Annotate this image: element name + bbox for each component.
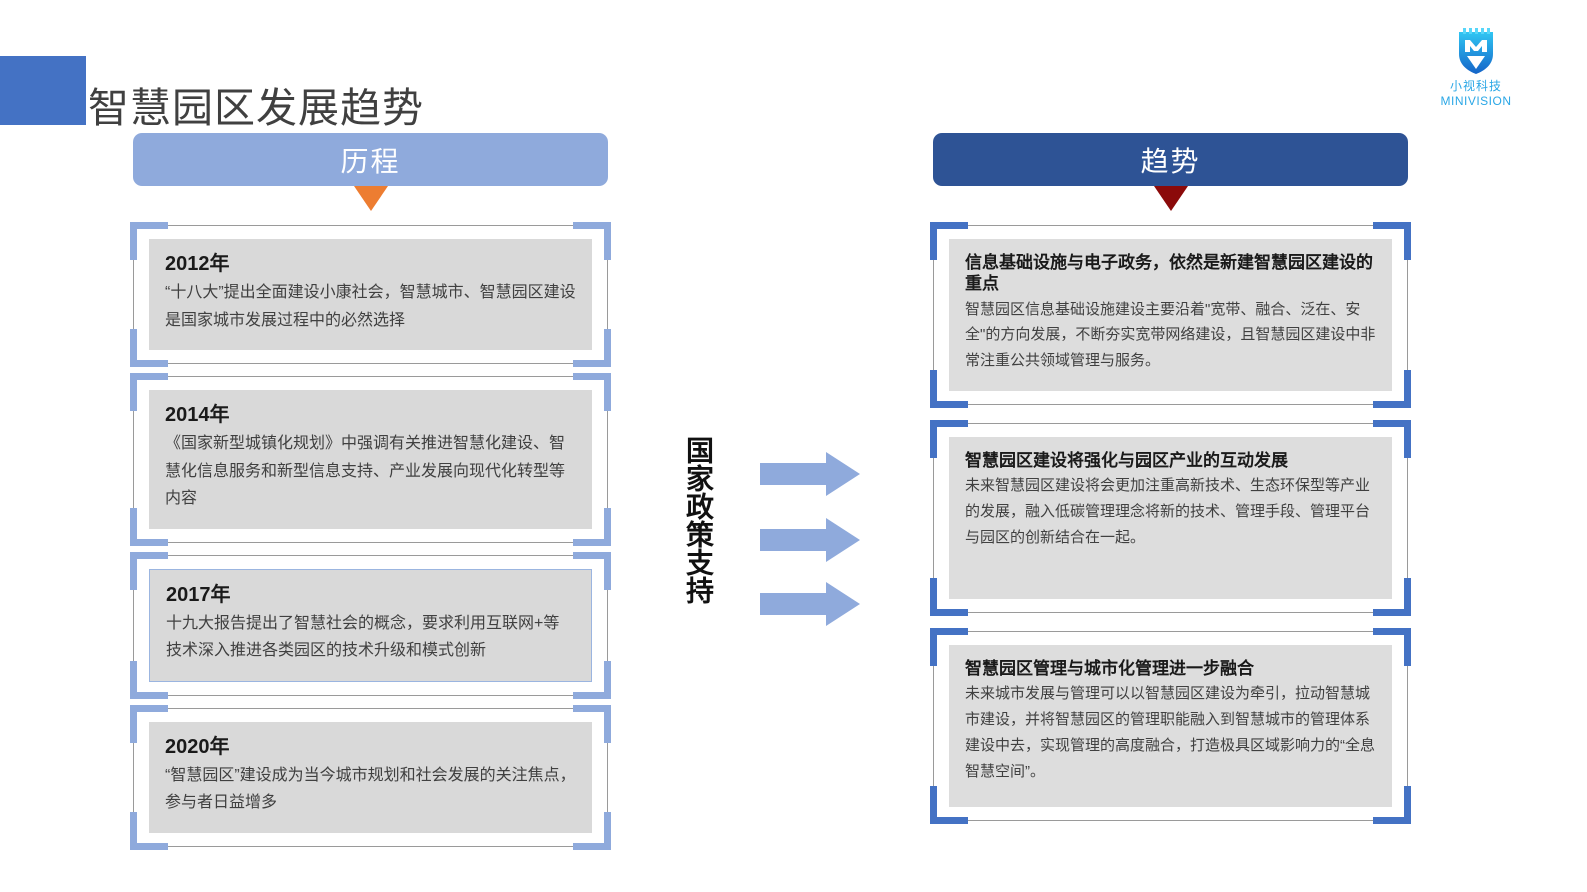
timeline-card: 2020年 “智慧园区”建设成为当今城市规划和社会发展的关注焦点，参与者日益增多 (133, 708, 608, 847)
trend-card: 智慧园区管理与城市化管理进一步融合 未来城市发展与管理可以以智慧园区建设为牵引，… (933, 631, 1408, 821)
flow-arrow-icon (760, 582, 860, 626)
trend-card-body: 未来城市发展与管理可以以智慧园区建设为牵引，拉动智慧城市建设，并将智慧园区的管理… (965, 681, 1376, 784)
column-header-history-label: 历程 (340, 140, 400, 180)
timeline-card-title: 2017年 (166, 583, 575, 608)
timeline-card-body: “十八大”提出全面建设小康社会，智慧城市、智慧园区建设是国家城市发展过程中的必然… (165, 279, 576, 334)
timeline-card: 2012年 “十八大”提出全面建设小康社会，智慧城市、智慧园区建设是国家城市发展… (133, 225, 608, 364)
trend-card-body: 未来智慧园区建设将会更加注重高新技术、生态环保型等产业的发展，融入低碳管理理念将… (965, 473, 1376, 550)
policy-support-label: 国家政策支持 (680, 436, 714, 604)
timeline-column: 历程 2012年 “十八大”提出全面建设小康社会，智慧城市、智慧园区建设是国家城… (133, 133, 608, 859)
shield-mv-logo-icon (1450, 26, 1502, 78)
column-header-trends: 趋势 (933, 133, 1408, 186)
timeline-card-body: “智慧园区”建设成为当今城市规划和社会发展的关注焦点，参与者日益增多 (165, 762, 576, 817)
timeline-card: 2017年 十九大报告提出了智慧社会的概念，要求利用互联网+等技术深入推进各类园… (133, 555, 608, 696)
history-pointer-triangle-icon (354, 186, 388, 211)
policy-support-band: 国家政策支持 (660, 430, 920, 630)
brand-name-cn: 小视科技 (1421, 79, 1531, 94)
trend-card-title: 信息基础设施与电子政务，依然是新建智慧园区建设的重点 (965, 252, 1376, 295)
flow-arrow-icon (760, 452, 860, 496)
title-accent-bar (0, 56, 86, 125)
trend-card: 信息基础设施与电子政务，依然是新建智慧园区建设的重点 智慧园区信息基础设施建设主… (933, 225, 1408, 405)
column-header-trends-label: 趋势 (1140, 140, 1200, 180)
timeline-card-inner: 2014年 《国家新型城镇化规划》中强调有关推进智慧化建设、智慧化信息服务和新型… (149, 390, 592, 529)
timeline-card-title: 2020年 (165, 735, 576, 760)
timeline-card-title: 2012年 (165, 252, 576, 277)
trends-column: 趋势 信息基础设施与电子政务，依然是新建智慧园区建设的重点 智慧园区信息基础设施… (933, 133, 1408, 833)
trend-card-title: 智慧园区管理与城市化管理进一步融合 (965, 658, 1376, 679)
timeline-card-title: 2014年 (165, 403, 576, 428)
timeline-card-inner: 2017年 十九大报告提出了智慧社会的概念，要求利用互联网+等技术深入推进各类园… (149, 569, 592, 682)
trend-card-body: 智慧园区信息基础设施建设主要沿着"宽带、融合、泛在、安全"的方向发展，不断夯实宽… (965, 297, 1376, 374)
brand-name-en: MINIVISION (1421, 94, 1531, 109)
timeline-card-body: 《国家新型城镇化规划》中强调有关推进智慧化建设、智慧化信息服务和新型信息支持、产… (165, 430, 576, 513)
timeline-card-inner: 2020年 “智慧园区”建设成为当今城市规划和社会发展的关注焦点，参与者日益增多 (149, 722, 592, 833)
column-header-history: 历程 (133, 133, 608, 186)
trend-card-inner: 智慧园区建设将强化与园区产业的互动发展 未来智慧园区建设将会更加注重高新技术、生… (949, 437, 1392, 599)
timeline-card: 2014年 《国家新型城镇化规划》中强调有关推进智慧化建设、智慧化信息服务和新型… (133, 376, 608, 543)
trend-card-inner: 信息基础设施与电子政务，依然是新建智慧园区建设的重点 智慧园区信息基础设施建设主… (949, 239, 1392, 391)
brand-logo: 小视科技 MINIVISION (1421, 26, 1531, 109)
timeline-card-inner: 2012年 “十八大”提出全面建设小康社会，智慧城市、智慧园区建设是国家城市发展… (149, 239, 592, 350)
flow-arrow-icon (760, 518, 860, 562)
trend-card-title: 智慧园区建设将强化与园区产业的互动发展 (965, 450, 1376, 471)
trend-card: 智慧园区建设将强化与园区产业的互动发展 未来智慧园区建设将会更加注重高新技术、生… (933, 423, 1408, 613)
trends-pointer-triangle-icon (1154, 186, 1188, 211)
trend-card-inner: 智慧园区管理与城市化管理进一步融合 未来城市发展与管理可以以智慧园区建设为牵引，… (949, 645, 1392, 807)
page-title: 智慧园区发展趋势 (88, 84, 424, 133)
timeline-card-body: 十九大报告提出了智慧社会的概念，要求利用互联网+等技术深入推进各类园区的技术升级… (166, 610, 575, 665)
